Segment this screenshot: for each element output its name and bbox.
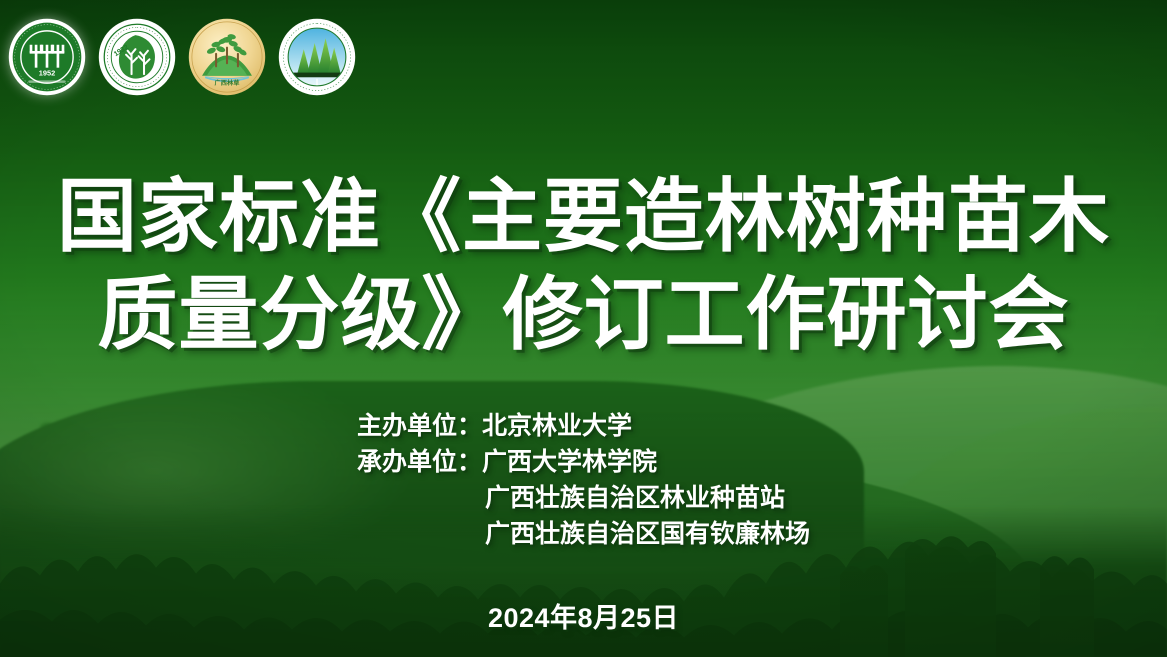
title-line-1: 国家标准《主要造林树种苗木 [0, 168, 1167, 266]
slide-title: 国家标准《主要造林树种苗木 质量分级》修订工作研讨会 [0, 168, 1167, 364]
presentation-slide: 1952 [0, 0, 1167, 657]
guangxi-forestry-grassland-logo: 广西林草 [188, 18, 266, 96]
organizer-line-host: 主办单位：北京林业大学 [357, 408, 810, 444]
beijing-forestry-university-forestry-college-logo: 1952 [8, 18, 86, 96]
guangxi-university-forestry-college-logo: 1932 [98, 18, 176, 96]
organizer-line-seedling-station: 广西壮族自治区林业种苗站 [357, 480, 810, 516]
organizer-line-forest-farm: 广西壮族自治区国有钦廉林场 [357, 516, 810, 552]
guangxi-state-forest-farm-logo [278, 18, 356, 96]
event-date: 2024年8月25日 [0, 596, 1167, 635]
logo-caption-guangxi-forestry: 广西林草 [215, 79, 241, 87]
organization-logo-row: 1952 [8, 18, 356, 96]
title-line-2: 质量分级》修订工作研讨会 [0, 266, 1167, 364]
organizer-line-co-host: 承办单位：广西大学林学院 [357, 444, 810, 480]
logo-year-1952: 1952 [39, 69, 55, 78]
organizer-block: 主办单位：北京林业大学 承办单位：广西大学林学院 广西壮族自治区林业种苗站 广西… [0, 408, 1167, 552]
